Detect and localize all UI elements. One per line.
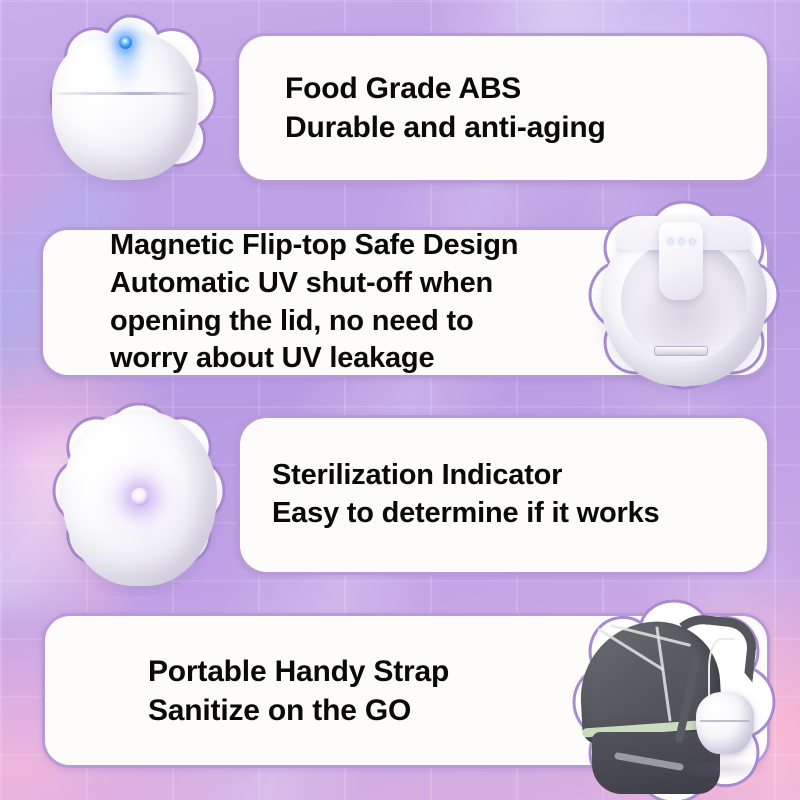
feature-image-frame-sterilization-indicator <box>42 400 237 596</box>
top-view-highlight-right <box>150 450 190 560</box>
uv-lamp-dot-mid-icon <box>679 239 684 244</box>
product-infographic: Food Grade ABS Durable and anti-aging Ma… <box>0 0 800 800</box>
feature-image-magnetic-flip-top <box>575 198 793 406</box>
uv-lamp-dot-left-icon <box>668 239 673 244</box>
feature-image-food-grade-abs <box>22 12 237 192</box>
device-shadow <box>676 758 774 780</box>
uv-lamp-dot-right-icon <box>690 239 695 244</box>
feature-card-food-grade-abs: Food Grade ABS Durable and anti-aging <box>236 33 770 183</box>
violet-sterilization-indicator-icon <box>131 488 149 506</box>
feature-image-portable-handy-strap <box>558 598 790 800</box>
feature-text-food-grade-abs: Food Grade ABS Durable and anti-aging <box>239 69 606 147</box>
handy-strap-cord <box>708 638 734 698</box>
charging-port-slot <box>654 346 708 356</box>
magnetic-hinge-block <box>659 222 703 300</box>
bowl-highlight <box>621 246 657 316</box>
feature-image-frame-food-grade-abs <box>22 12 237 192</box>
hanging-sterilizer-device <box>696 692 754 754</box>
hanging-device-seam <box>700 720 750 722</box>
feature-image-frame-portable-handy-strap <box>558 598 790 800</box>
capsule-highlight <box>68 42 122 138</box>
feature-text-portable-handy-strap: Portable Handy Strap Sanitize on the GO <box>45 652 449 730</box>
feature-text-magnetic-flip-top: Magnetic Flip-top Safe Design Automatic … <box>43 227 518 378</box>
capsule-highlight-right <box>154 74 176 140</box>
feature-image-sterilization-indicator <box>42 400 237 596</box>
led-light-beam <box>116 42 136 94</box>
blue-led-indicator-icon <box>119 36 132 49</box>
feature-image-frame-magnetic-flip-top <box>575 198 793 406</box>
top-view-highlight <box>78 424 138 528</box>
feature-card-sterilization-indicator: Sterilization Indicator Easy to determin… <box>237 415 770 575</box>
feature-text-sterilization-indicator: Sterilization Indicator Easy to determin… <box>240 457 659 532</box>
